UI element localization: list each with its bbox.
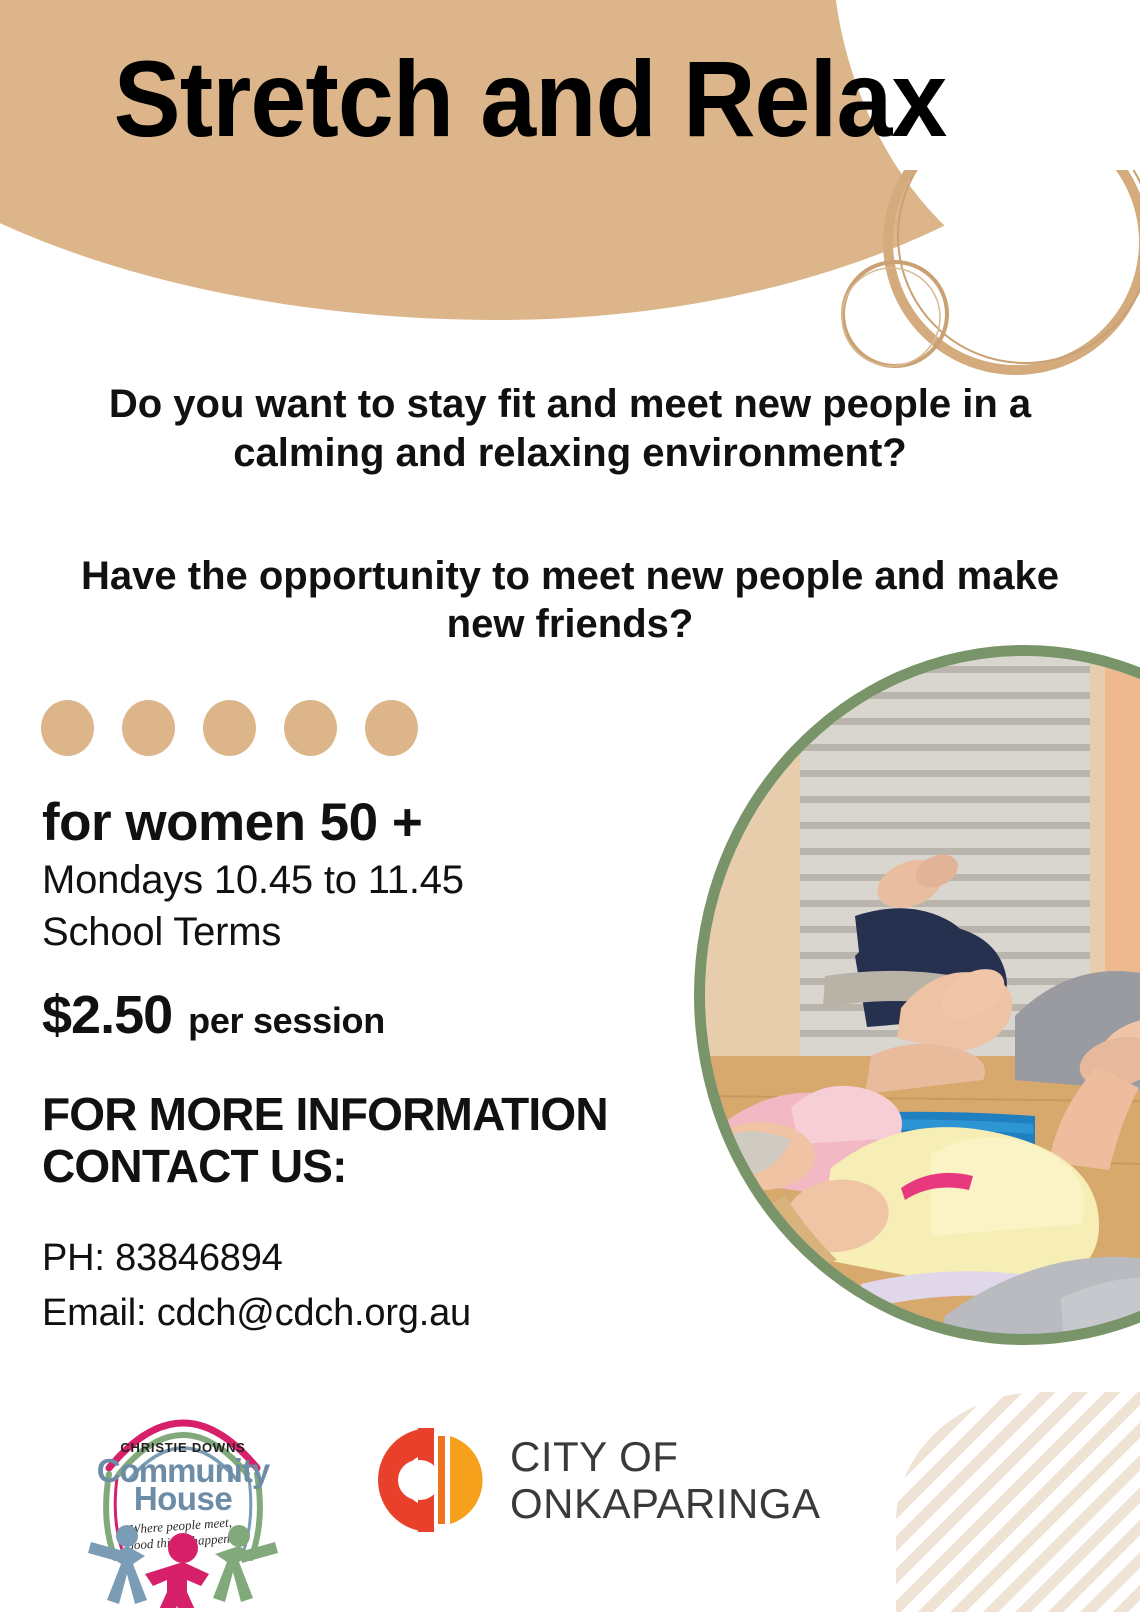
photo-circle-frame [694,645,1140,1345]
price-amount: $2.50 [42,984,172,1046]
contact-phone: PH: 83846894 [42,1231,608,1286]
poster-root: Stretch and Relax Do you want to stay fi… [0,0,1140,1612]
community-house-logo: CHRISTIE DOWNS Community House Where peo… [85,1382,281,1608]
striped-corner-decoration [896,1392,1140,1612]
intro-paragraph-1: Do you want to stay fit and meet new peo… [40,380,1100,478]
city-of-onkaparinga-logo: CITY OF ONKAPARINGA [374,1424,820,1536]
decorative-rings [820,170,1140,390]
dot-icon [122,700,175,756]
schedule-line-1: Mondays 10.45 to 11.45 [42,854,464,906]
poster-title: Stretch and Relax [37,44,1023,154]
photo-circle-wrap [694,645,1140,1345]
intro-block: Do you want to stay fit and meet new peo… [40,380,1100,649]
onkaparinga-mark-icon [374,1424,486,1536]
onkaparinga-line-2: ONKAPARINGA [510,1480,820,1527]
stretching-class-photo [705,656,1140,1334]
intro-paragraph-2: Have the opportunity to meet new people … [40,552,1100,650]
price-unit: per session [188,1000,385,1042]
dot-icon [365,700,418,756]
audience-headline: for women 50 + [42,793,464,852]
onkaparinga-line-1: CITY OF [510,1433,820,1480]
contact-block: FOR MORE INFORMATION CONTACT US: PH: 838… [42,1088,608,1341]
dot-icon [41,700,94,756]
dot-icon [203,700,256,756]
contact-heading-line-2: CONTACT US: [42,1140,608,1192]
session-details: for women 50 + Mondays 10.45 to 11.45 Sc… [42,793,464,1046]
contact-email: Email: cdch@cdch.org.au [42,1286,608,1341]
price-row: $2.50 per session [42,984,464,1046]
onkaparinga-wordmark: CITY OF ONKAPARINGA [510,1433,820,1528]
contact-heading-line-1: FOR MORE INFORMATION [42,1088,608,1140]
dot-icon [284,700,337,756]
decorative-dot-row [41,700,418,756]
contact-details: PH: 83846894 Email: cdch@cdch.org.au [42,1231,608,1341]
schedule-line-2: School Terms [42,906,464,958]
logo-line-house: House [134,1480,233,1517]
